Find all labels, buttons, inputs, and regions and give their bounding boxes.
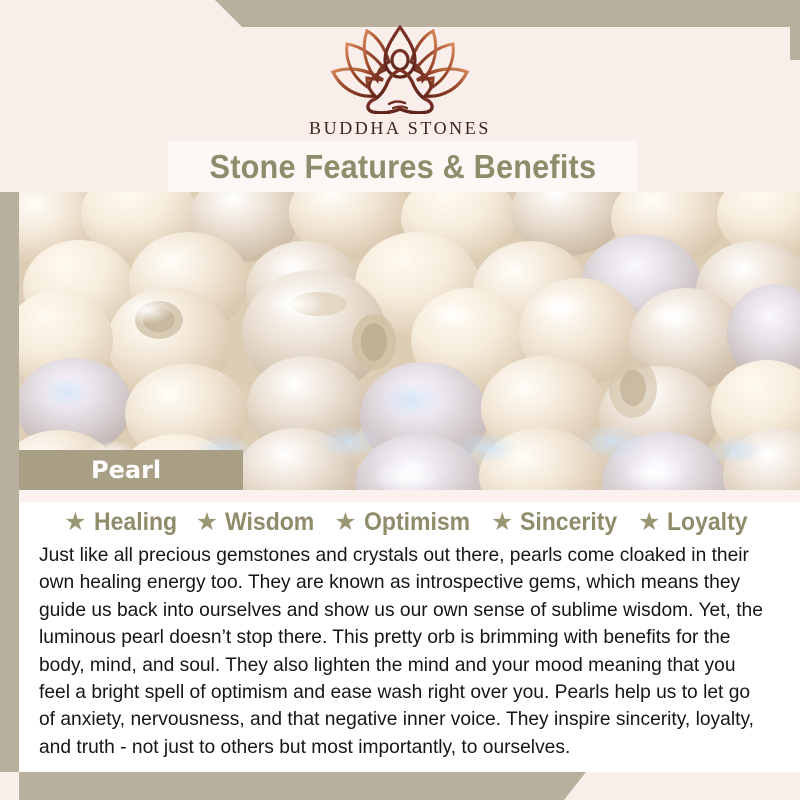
brand-wordmark: BUDDHA STONES [270, 118, 530, 139]
left-frame-band [0, 192, 19, 772]
infographic-poster: BUDDHA STONES Stone Features & Benefits [0, 0, 800, 800]
title-banner: Stone Features & Benefits [168, 141, 638, 192]
star-icon: ★ [334, 510, 356, 535]
page-title: Stone Features & Benefits [210, 148, 597, 186]
star-icon: ★ [638, 510, 660, 535]
bottom-frame-band [19, 772, 605, 800]
brand-logo: BUDDHA STONES [270, 22, 530, 139]
lotus-meditation-icon [315, 22, 485, 114]
card-top-strip [19, 490, 800, 502]
benefit-label: Loyalty [667, 508, 748, 537]
content-card: ★ Healing ★ Wisdom ★ Optimism ★ Sincerit… [19, 490, 800, 772]
star-icon: ★ [196, 510, 218, 535]
stone-name: Pearl [19, 456, 161, 484]
benefit-label: Sincerity [520, 508, 617, 537]
benefits-row: ★ Healing ★ Wisdom ★ Optimism ★ Sincerit… [19, 508, 800, 537]
stone-name-bar: Pearl [19, 450, 243, 490]
pearl-photo-image [19, 192, 800, 490]
bottom-pink-wedge [560, 772, 800, 800]
benefit-item: ★ Loyalty [638, 508, 755, 537]
benefit-label: Healing [94, 508, 177, 537]
benefit-label: Optimism [364, 508, 470, 537]
benefit-item: ★ Healing [64, 508, 184, 537]
benefit-item: ★ Sincerity [491, 508, 626, 537]
star-icon: ★ [64, 510, 86, 535]
description-text: Just like all precious gemstones and cry… [39, 542, 768, 761]
star-icon: ★ [491, 510, 513, 535]
pearl-photo [19, 192, 800, 490]
benefit-item: ★ Wisdom [196, 508, 322, 537]
benefit-item: ★ Optimism [334, 508, 479, 537]
benefit-label: Wisdom [225, 508, 314, 537]
